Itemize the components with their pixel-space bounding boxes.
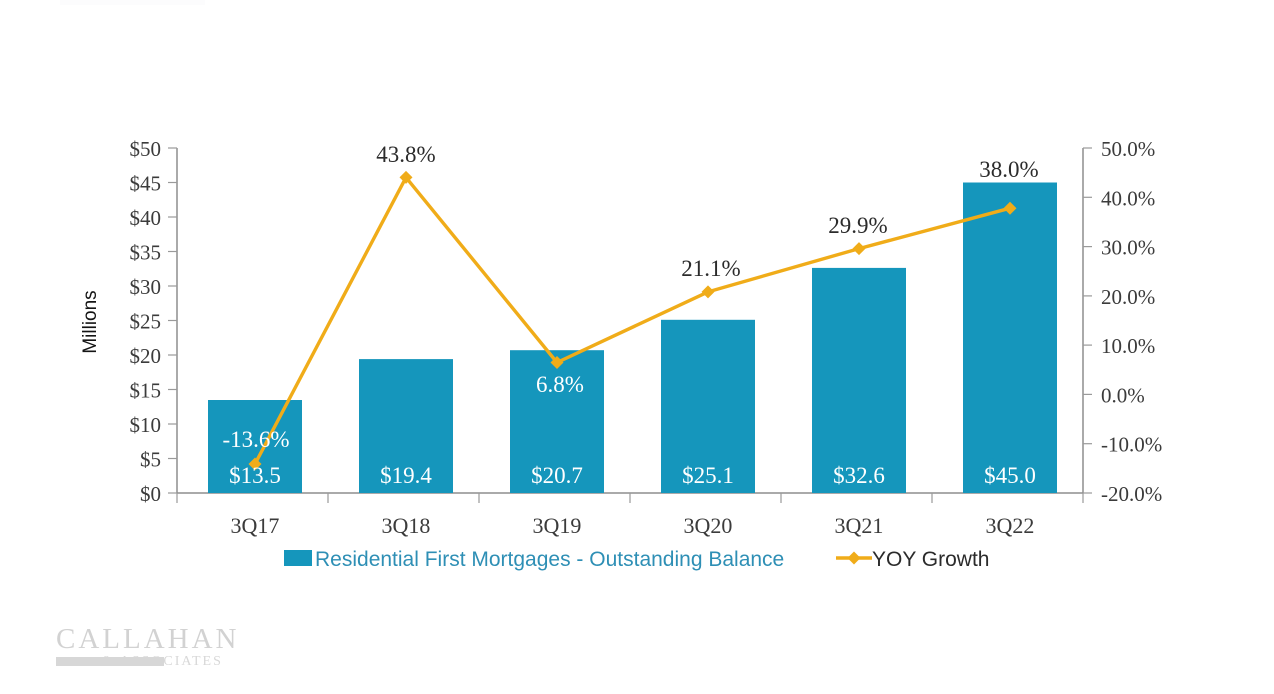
right-axis: 50.0% 40.0% 30.0% 20.0% 10.0% 0.0% -10.0… xyxy=(1083,137,1162,506)
left-axis-tick-label: $35 xyxy=(130,241,162,265)
left-axis-tick-label: $0 xyxy=(140,482,161,506)
bar-value-label: $32.6 xyxy=(833,463,885,488)
legend-label-balance[interactable]: Residential First Mortgages - Outstandin… xyxy=(315,548,784,571)
left-axis-tick-label: $45 xyxy=(130,172,162,196)
right-axis-tick-label: 20.0% xyxy=(1101,285,1155,309)
bar-value-label: $13.5 xyxy=(229,463,281,488)
left-axis: $50 $45 $40 $35 $30 $25 $20 $15 $10 $5 $… xyxy=(80,137,177,506)
legend-diamond-marker-icon-yoy[interactable] xyxy=(848,552,861,565)
left-axis-tick-label: $50 xyxy=(130,137,162,161)
category-label: 3Q21 xyxy=(835,513,884,538)
bar-value-labels: $13.5 $19.4 $20.7 $25.1 $32.6 $45.0 xyxy=(229,463,1036,488)
line-marker-3q20[interactable] xyxy=(702,285,715,298)
right-axis-tick-label: 10.0% xyxy=(1101,334,1155,358)
right-axis-tick-label: -20.0% xyxy=(1101,482,1162,506)
line-value-label: 6.8% xyxy=(536,372,584,397)
category-label: 3Q20 xyxy=(684,513,733,538)
category-label: 3Q17 xyxy=(231,513,280,538)
bar-value-label: $25.1 xyxy=(682,463,734,488)
left-axis-tick-label: $30 xyxy=(130,275,162,299)
line-value-label: -13.6% xyxy=(222,427,289,452)
line-value-label: 29.9% xyxy=(828,213,887,238)
left-axis-tick-label: $20 xyxy=(130,344,162,368)
left-axis-tick-label: $10 xyxy=(130,413,162,437)
right-axis-tick-label: 50.0% xyxy=(1101,137,1155,161)
bar-value-label: $20.7 xyxy=(531,463,583,488)
left-axis-tick-label: $40 xyxy=(130,206,162,230)
left-axis-title: Millions xyxy=(80,290,101,353)
line-value-label: 43.8% xyxy=(376,142,435,167)
chart-legend: Residential First Mortgages - Outstandin… xyxy=(284,548,990,571)
right-axis-tick-label: 30.0% xyxy=(1101,236,1155,260)
bar-3q22[interactable] xyxy=(963,183,1057,494)
chart-canvas: $50 $45 $40 $35 $30 $25 $20 $15 $10 $5 $… xyxy=(0,0,1274,694)
left-axis-tick-label: $25 xyxy=(130,310,162,334)
line-value-label: 38.0% xyxy=(979,157,1038,182)
chart-container: $50 $45 $40 $35 $30 $25 $20 $15 $10 $5 $… xyxy=(0,0,1274,694)
bar-3q21[interactable] xyxy=(812,268,906,493)
category-label: 3Q18 xyxy=(382,513,431,538)
right-axis-tick-label: 40.0% xyxy=(1101,186,1155,210)
left-axis-tick-label: $5 xyxy=(140,448,161,472)
right-axis-tick-label: 0.0% xyxy=(1101,383,1145,407)
category-label: 3Q19 xyxy=(533,513,582,538)
left-axis-tick-label: $15 xyxy=(130,379,162,403)
legend-label-yoy[interactable]: YOY Growth xyxy=(872,548,990,571)
right-axis-tick-label: -10.0% xyxy=(1101,433,1162,457)
category-axis: 3Q17 3Q18 3Q19 3Q20 3Q21 3Q22 xyxy=(177,493,1083,538)
line-marker-3q21[interactable] xyxy=(853,242,866,255)
legend-swatch-icon-balance[interactable] xyxy=(284,550,312,566)
bar-value-label: $19.4 xyxy=(380,463,432,488)
line-value-label: 21.1% xyxy=(681,256,740,281)
category-label: 3Q22 xyxy=(986,513,1035,538)
bar-value-label: $45.0 xyxy=(984,463,1036,488)
